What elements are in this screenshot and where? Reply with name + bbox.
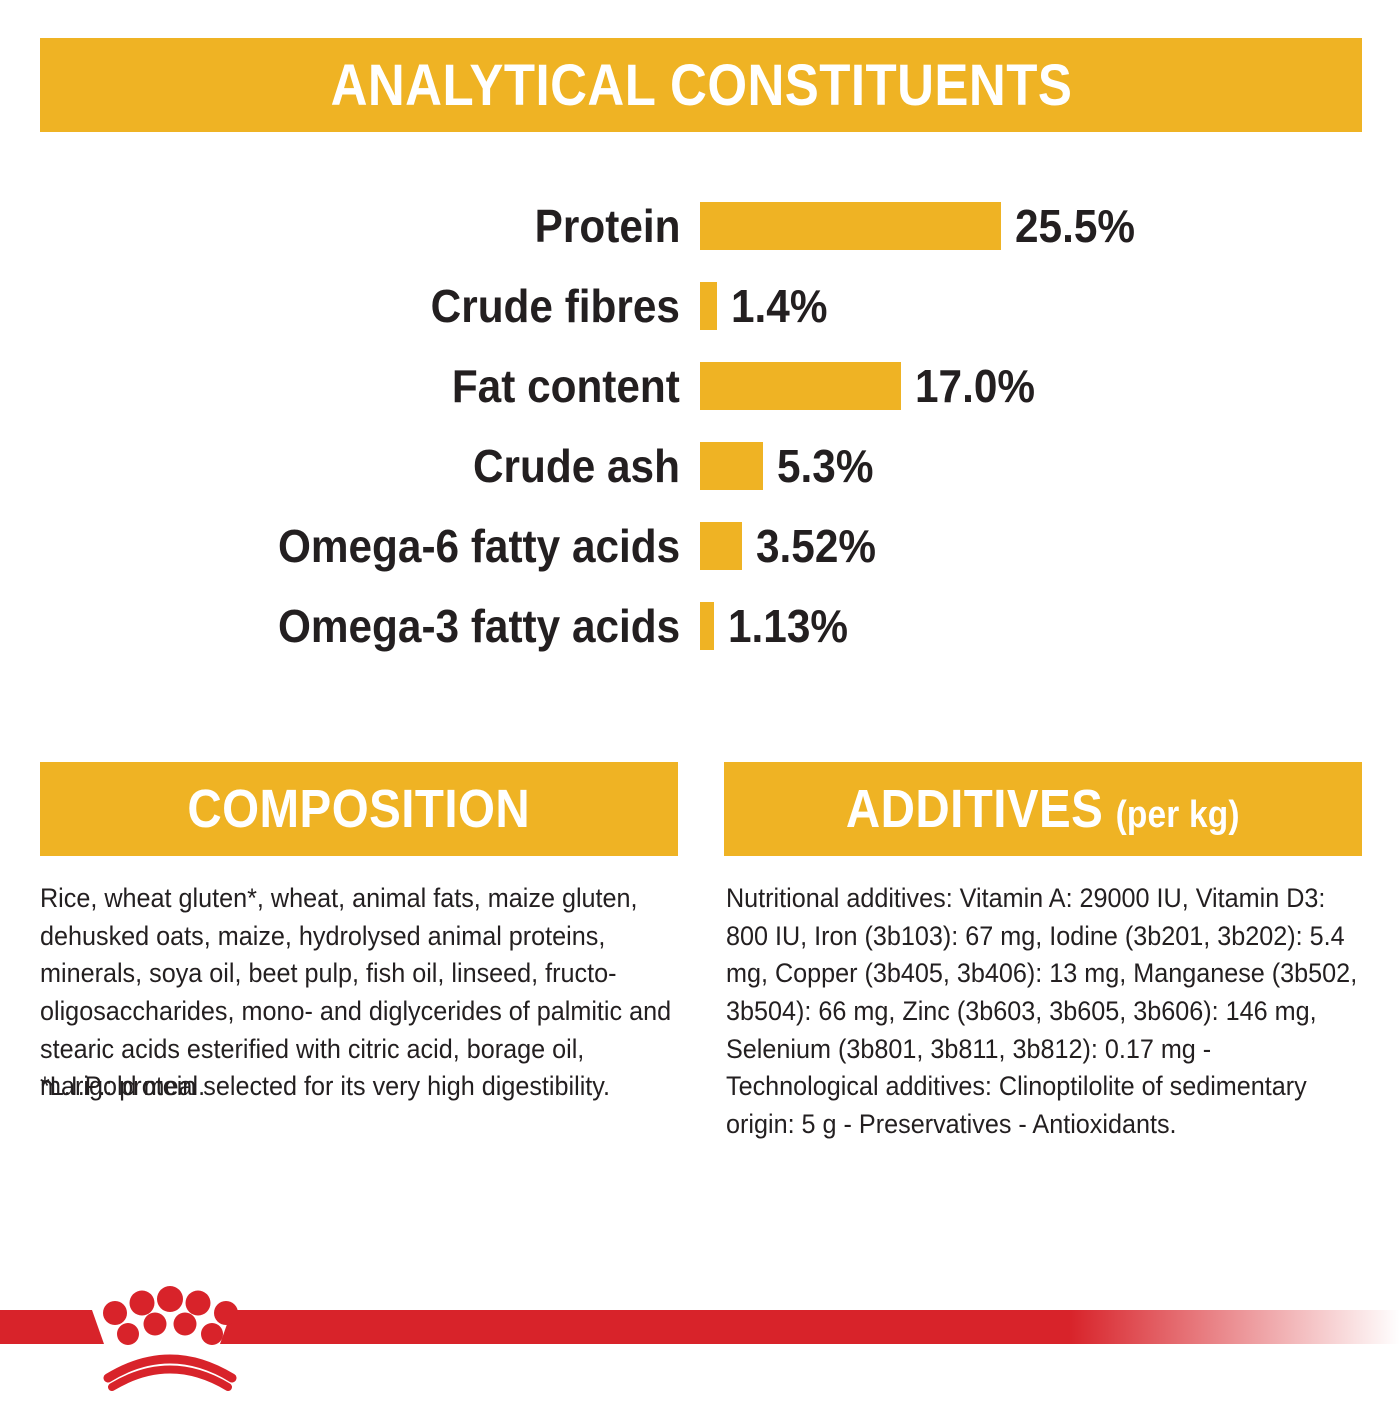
additives-detail-text: Nutritional additives: Vitamin A: 29000 … <box>726 880 1364 1143</box>
nutrient-bar-group: 1.13% <box>700 602 858 650</box>
nutrient-bar-group: 17.0% <box>700 362 1045 410</box>
nutrient-bar <box>700 442 763 490</box>
nutrient-value: 1.4% <box>731 283 827 329</box>
crown-logo-svg <box>0 1286 1400 1396</box>
nutrient-row: Crude fibres1.4% <box>0 266 1400 346</box>
nutrient-value: 17.0% <box>915 363 1035 409</box>
nutrient-label: Crude fibres <box>431 283 680 329</box>
analytical-constituents-chart: Protein25.5%Crude fibres1.4%Fat content1… <box>0 186 1400 666</box>
nutrient-value: 25.5% <box>1015 203 1135 249</box>
nutrient-bar-group: 3.52% <box>700 522 886 570</box>
nutrient-bar-group: 25.5% <box>700 202 1145 250</box>
crown-dot-top-3 <box>157 1286 183 1312</box>
royal-canin-crown-logo <box>0 1286 1400 1396</box>
nutrient-bar <box>700 362 901 410</box>
nutrient-bar-group: 5.3% <box>700 442 882 490</box>
crown-dot-top-4 <box>186 1291 211 1316</box>
crown-dot-mid-1 <box>117 1323 139 1345</box>
crown-dot-mid-3 <box>174 1313 197 1336</box>
additives-title-group: ADDITIVES (per kg) <box>846 778 1240 840</box>
composition-lip-footnote: *L.I.P.: protein selected for its very h… <box>40 1068 686 1106</box>
composition-header: COMPOSITION <box>40 762 678 856</box>
nutrient-label: Omega-3 fatty acids <box>278 603 680 649</box>
nutrient-bar <box>700 282 717 330</box>
nutrient-bar <box>700 522 742 570</box>
nutrient-row: Protein25.5% <box>0 186 1400 266</box>
additives-title: ADDITIVES <box>846 778 1103 840</box>
nutrient-value: 3.52% <box>756 523 876 569</box>
nutrient-value: 5.3% <box>777 443 873 489</box>
left-red-bar <box>0 1310 104 1344</box>
nutrient-row: Fat content17.0% <box>0 346 1400 426</box>
nutrient-label: Crude ash <box>473 443 680 489</box>
crown-dot-top-2 <box>130 1291 155 1316</box>
nutrient-row: Omega-6 fatty acids3.52% <box>0 506 1400 586</box>
analytical-constituents-header: ANALYTICAL CONSTITUENTS <box>40 38 1362 132</box>
crown-dot-mid-4 <box>201 1323 223 1345</box>
right-red-bar <box>220 1310 1400 1344</box>
nutrient-bar <box>700 202 1001 250</box>
nutrient-bar-group: 1.4% <box>700 282 836 330</box>
crown-arc-inner <box>112 1370 228 1388</box>
nutrient-label: Fat content <box>452 363 680 409</box>
crown-dot-mid-2 <box>144 1313 167 1336</box>
nutrient-row: Omega-3 fatty acids1.13% <box>0 586 1400 666</box>
additives-subtitle: (per kg) <box>1116 794 1240 837</box>
composition-title: COMPOSITION <box>188 778 531 840</box>
analytical-constituents-title: ANALYTICAL CONSTITUENTS <box>330 52 1072 119</box>
crown-dot-top-5 <box>214 1301 238 1325</box>
nutrient-row: Crude ash5.3% <box>0 426 1400 506</box>
nutrient-label: Omega-6 fatty acids <box>278 523 680 569</box>
crown-dot-top-1 <box>103 1301 127 1325</box>
nutrient-value: 1.13% <box>728 603 848 649</box>
nutrient-label: Protein <box>534 203 680 249</box>
nutrient-bar <box>700 602 714 650</box>
additives-header: ADDITIVES (per kg) <box>724 762 1362 856</box>
